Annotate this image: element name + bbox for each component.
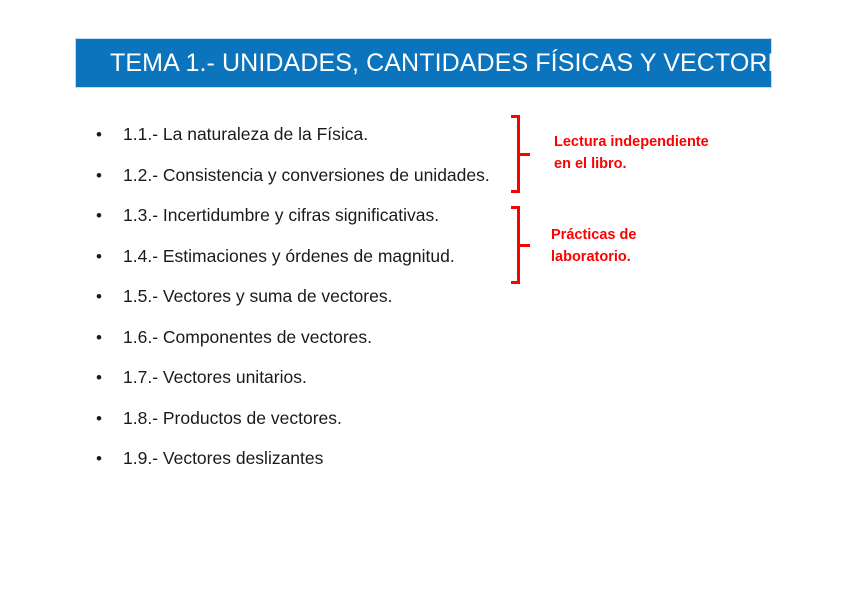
list-item-label: 1.4.- Estimaciones y órdenes de magnitud…	[123, 246, 455, 268]
bracket-cap-bottom	[511, 190, 520, 193]
bullet-icon: •	[96, 246, 123, 267]
title-banner: TEMA 1.- UNIDADES, CANTIDADES FÍSICAS Y …	[75, 38, 772, 88]
annotation-lectura-independiente: Lectura independiente en el libro.	[554, 132, 709, 176]
list-item: • 1.6.- Componentes de vectores.	[96, 327, 516, 368]
bullet-icon: •	[96, 205, 123, 226]
list-item: • 1.2.- Consistencia y conversiones de u…	[96, 165, 516, 206]
slide-canvas: TEMA 1.- UNIDADES, CANTIDADES FÍSICAS Y …	[0, 0, 848, 599]
bullet-icon: •	[96, 327, 123, 348]
list-item-label: 1.5.- Vectores y suma de vectores.	[123, 286, 392, 308]
bullet-icon: •	[96, 165, 123, 186]
list-item: • 1.8.- Productos de vectores.	[96, 408, 516, 449]
list-item: • 1.9.- Vectores deslizantes	[96, 448, 516, 489]
list-item-label: 1.8.- Productos de vectores.	[123, 408, 342, 430]
list-item-label: 1.3.- Incertidumbre y cifras significati…	[123, 205, 439, 227]
annotation-practicas-laboratorio: Prácticas de laboratorio.	[551, 225, 636, 269]
list-item-label: 1.9.- Vectores deslizantes	[123, 448, 323, 470]
page-title: TEMA 1.- UNIDADES, CANTIDADES FÍSICAS Y …	[76, 51, 801, 76]
annotation-line-2: laboratorio.	[551, 247, 636, 269]
bullet-icon: •	[96, 367, 123, 388]
list-item: • 1.7.- Vectores unitarios.	[96, 367, 516, 408]
list-item: • 1.3.- Incertidumbre y cifras significa…	[96, 205, 516, 246]
bracket-tick	[520, 244, 530, 247]
group-bracket-practicas-icon	[511, 206, 531, 284]
outline-list: • 1.1.- La naturaleza de la Física. • 1.…	[96, 124, 516, 489]
list-item-label: 1.6.- Componentes de vectores.	[123, 327, 372, 349]
list-item: • 1.4.- Estimaciones y órdenes de magnit…	[96, 246, 516, 287]
list-item-label: 1.1.- La naturaleza de la Física.	[123, 124, 368, 146]
bullet-icon: •	[96, 408, 123, 429]
bracket-tick	[520, 153, 530, 156]
annotation-line-2: en el libro.	[554, 154, 709, 176]
bullet-icon: •	[96, 124, 123, 145]
annotation-line-1: Prácticas de	[551, 225, 636, 247]
bullet-icon: •	[96, 286, 123, 307]
list-item-label: 1.7.- Vectores unitarios.	[123, 367, 307, 389]
list-item-label: 1.2.- Consistencia y conversiones de uni…	[123, 165, 490, 187]
list-item: • 1.5.- Vectores y suma de vectores.	[96, 286, 516, 327]
list-item: • 1.1.- La naturaleza de la Física.	[96, 124, 516, 165]
bracket-cap-bottom	[511, 281, 520, 284]
group-bracket-lectura-icon	[511, 115, 531, 193]
annotation-line-1: Lectura independiente	[554, 132, 709, 154]
bullet-icon: •	[96, 448, 123, 469]
